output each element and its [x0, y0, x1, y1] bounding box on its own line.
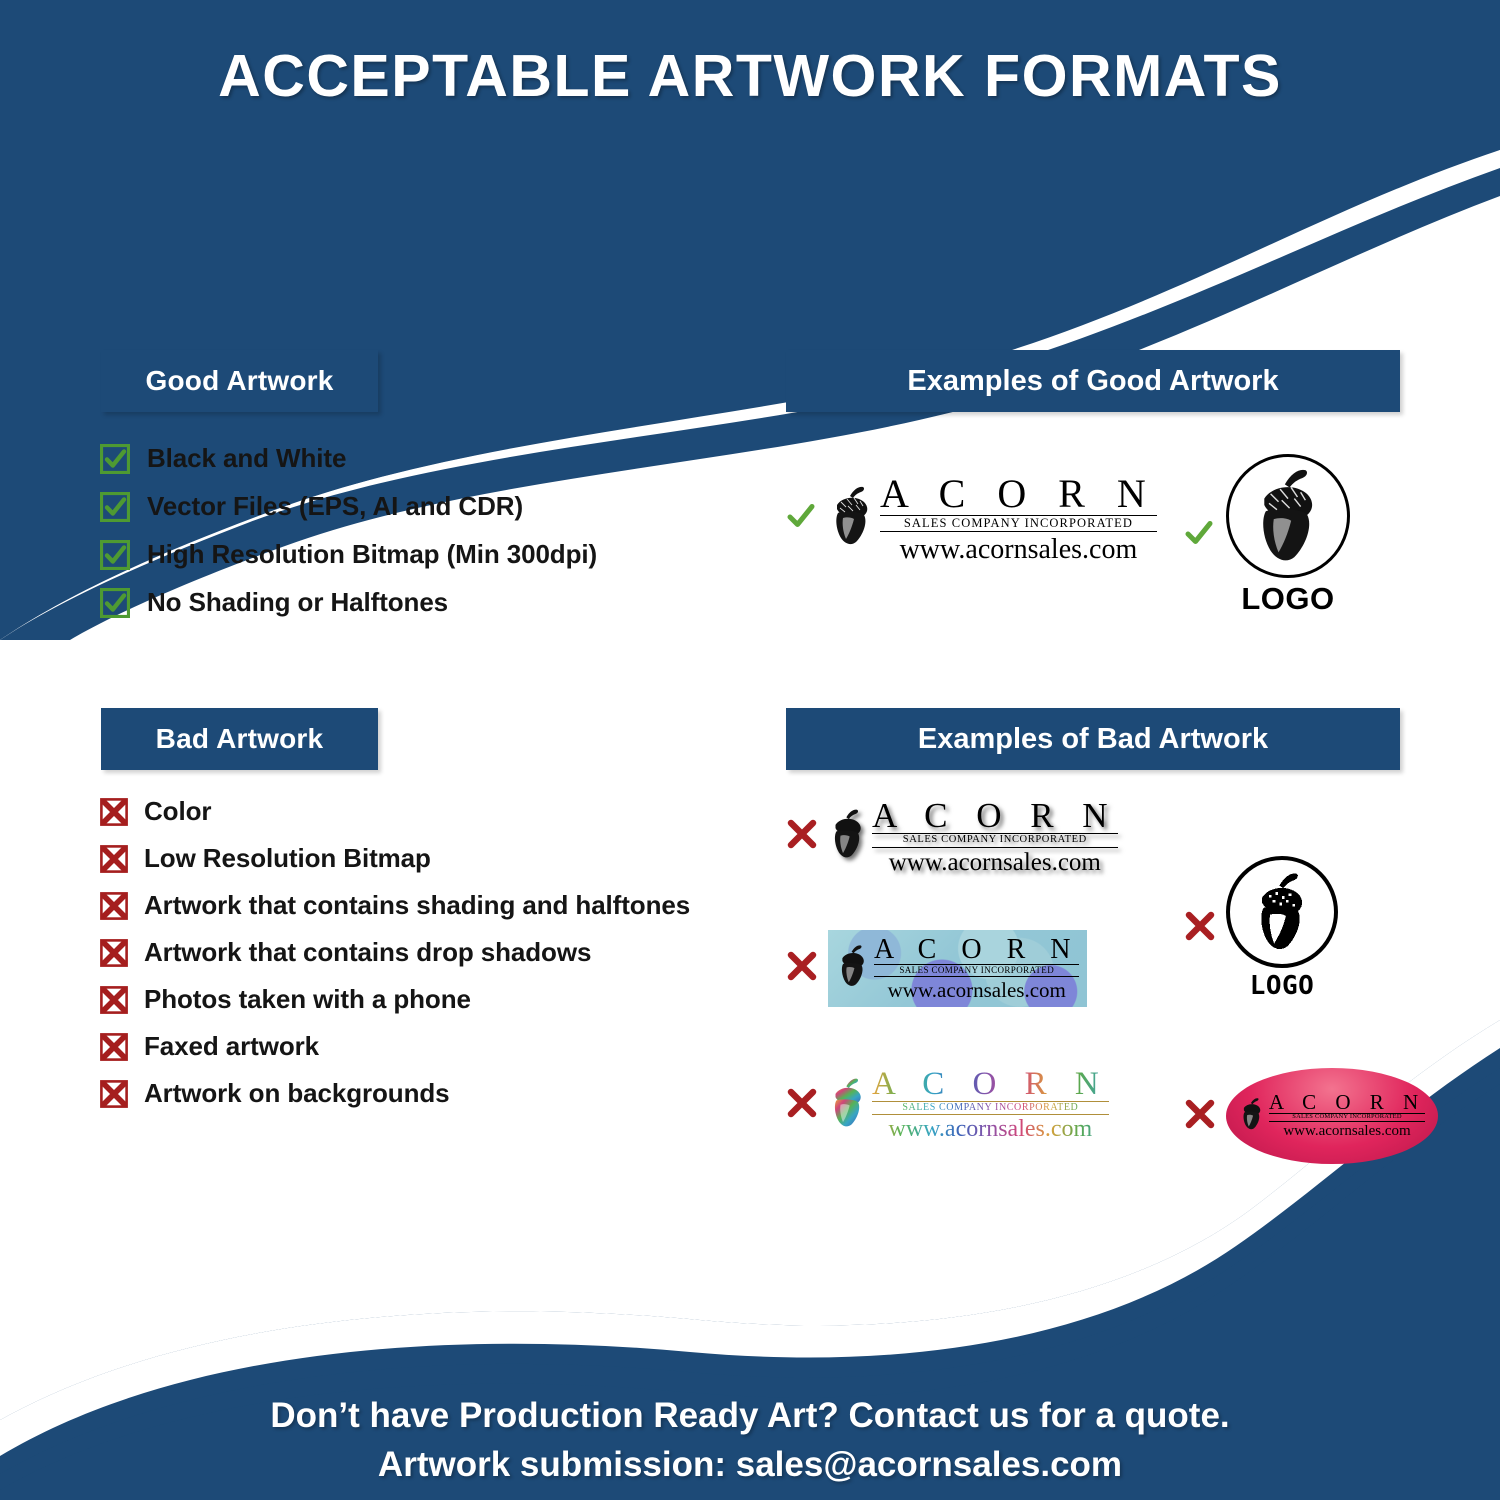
acorn-wordmark-block: A C O R N SALES COMPANY INCORPORATED www… — [872, 798, 1118, 876]
poster-canvas: ACCEPTABLE ARTWORK FORMATS Good Artwork … — [0, 0, 1500, 1500]
bad-example-item: A C O R N SALES COMPANY INCORPORATED www… — [786, 798, 1118, 876]
section-header-good-artwork: Good Artwork — [101, 350, 378, 412]
acorn-subtitle: SALES COMPANY INCORPORATED — [872, 833, 1118, 848]
good-example-item: A C O R N SALES COMPANY INCORPORATED www… — [786, 474, 1157, 564]
cross-mark-icon — [1184, 1098, 1216, 1135]
acorn-subtitle: SALES COMPANY INCORPORATED — [872, 1101, 1109, 1115]
list-item-label: Faxed artwork — [144, 1031, 319, 1062]
list-item-label: Color — [144, 796, 211, 827]
good-examples-gallery: A C O R N SALES COMPANY INCORPORATED www… — [786, 432, 1400, 622]
section-header-good-artwork-label: Good Artwork — [145, 365, 333, 397]
section-header-bad-artwork: Bad Artwork — [101, 708, 378, 770]
cross-mark-icon — [786, 1087, 818, 1124]
badge-caption: LOGO — [1241, 581, 1334, 617]
list-item: Artwork that contains drop shadows — [100, 937, 780, 968]
badge-ring — [1226, 454, 1350, 578]
list-item: Artwork on backgrounds — [100, 1078, 780, 1109]
bad-example-item: LOGO — [1184, 856, 1338, 1001]
acorn-icon — [828, 1077, 868, 1134]
section-header-good-examples-label: Examples of Good Artwork — [907, 365, 1278, 398]
checkbox-cross-icon — [100, 986, 128, 1014]
bad-examples-gallery: A C O R N SALES COMPANY INCORPORATED www… — [786, 780, 1400, 1180]
acorn-logo-oval: A C O R N SALES COMPANY INCORPORATED www… — [1226, 1068, 1438, 1164]
bad-example-item: A C O R N SALES COMPANY INCORPORATED www… — [786, 1068, 1109, 1142]
list-item-label: Vector Files (EPS, AI and CDR) — [147, 491, 523, 522]
footer-line-1: Don’t have Production Ready Art? Contact… — [0, 1396, 1500, 1436]
badge-ring — [1226, 856, 1338, 968]
checkbox-check-icon — [100, 540, 130, 570]
bad-artwork-list: Color Low Resolution Bitmap Artwork that… — [100, 796, 780, 1125]
cross-mark-icon — [786, 950, 818, 987]
section-header-good-examples: Examples of Good Artwork — [786, 350, 1400, 412]
good-artwork-list: Black and White Vector Files (EPS, AI an… — [100, 443, 780, 635]
acorn-url: www.acornsales.com — [880, 535, 1157, 564]
list-item: Vector Files (EPS, AI and CDR) — [100, 491, 780, 522]
checkbox-cross-icon — [100, 1080, 128, 1108]
section-header-bad-examples-label: Examples of Bad Artwork — [918, 723, 1268, 756]
footer-line-2: Artwork submission: sales@acornsales.com — [0, 1445, 1500, 1485]
list-item: Black and White — [100, 443, 780, 474]
list-item-label: No Shading or Halftones — [147, 587, 448, 618]
acorn-icon — [1245, 467, 1331, 565]
checkbox-cross-icon — [100, 939, 128, 967]
checkbox-cross-icon — [100, 1033, 128, 1061]
list-item: High Resolution Bitmap (Min 300dpi) — [100, 539, 780, 570]
acorn-logo-badge: LOGO — [1226, 856, 1338, 1001]
acorn-wordmark: A C O R N — [872, 1068, 1109, 1101]
acorn-subtitle: SALES COMPANY INCORPORATED — [1269, 1113, 1425, 1123]
acorn-wordmark: A C O R N — [1269, 1092, 1425, 1113]
list-item-label: Artwork that contains shading and halfto… — [144, 890, 690, 921]
checkbox-cross-icon — [100, 892, 128, 920]
list-item-label: Artwork on backgrounds — [144, 1078, 450, 1109]
list-item-label: Low Resolution Bitmap — [144, 843, 431, 874]
acorn-subtitle: SALES COMPANY INCORPORATED — [874, 964, 1079, 977]
acorn-url: www.acornsales.com — [872, 1117, 1109, 1142]
acorn-wordmark-block: A C O R N SALES COMPANY INCORPORATED www… — [1269, 1092, 1425, 1140]
check-mark-icon — [786, 501, 816, 536]
acorn-wordmark-block: A C O R N SALES COMPANY INCORPORATED www… — [874, 936, 1079, 1001]
list-item-label: Photos taken with a phone — [144, 984, 471, 1015]
list-item-label: Artwork that contains drop shadows — [144, 937, 591, 968]
checkbox-check-icon — [100, 444, 130, 474]
checkbox-cross-icon — [100, 798, 128, 826]
acorn-wordmark: A C O R N — [872, 798, 1118, 833]
cross-mark-icon — [786, 818, 818, 855]
list-item-label: Black and White — [147, 443, 346, 474]
list-item-label: High Resolution Bitmap (Min 300dpi) — [147, 539, 597, 570]
page-title: ACCEPTABLE ARTWORK FORMATS — [0, 42, 1500, 110]
acorn-url: www.acornsales.com — [874, 979, 1079, 1001]
acorn-icon — [836, 944, 870, 993]
list-item: No Shading or Halftones — [100, 587, 780, 618]
check-mark-icon — [1184, 518, 1214, 553]
cross-mark-icon — [1184, 910, 1216, 947]
badge-caption: LOGO — [1250, 971, 1315, 1001]
checkbox-cross-icon — [100, 845, 128, 873]
list-item: Color — [100, 796, 780, 827]
acorn-logo-lockup: A C O R N SALES COMPANY INCORPORATED www… — [1239, 1092, 1425, 1140]
acorn-wordmark-block: A C O R N SALES COMPANY INCORPORATED www… — [880, 474, 1157, 564]
acorn-logo-lockup: A C O R N SALES COMPANY INCORPORATED www… — [828, 930, 1087, 1007]
section-header-bad-artwork-label: Bad Artwork — [156, 723, 324, 755]
list-item: Faxed artwork — [100, 1031, 780, 1062]
acorn-logo-lockup: A C O R N SALES COMPANY INCORPORATED www… — [828, 798, 1118, 876]
acorn-logo-lockup: A C O R N SALES COMPANY INCORPORATED www… — [828, 1068, 1109, 1142]
acorn-icon — [1247, 871, 1317, 953]
checkbox-check-icon — [100, 492, 130, 522]
bad-example-item: A C O R N SALES COMPANY INCORPORATED www… — [1184, 1068, 1438, 1164]
acorn-icon — [1239, 1097, 1265, 1136]
acorn-url: www.acornsales.com — [872, 850, 1118, 876]
list-item: Low Resolution Bitmap — [100, 843, 780, 874]
acorn-wordmark: A C O R N — [874, 936, 1079, 964]
acorn-url: www.acornsales.com — [1269, 1124, 1425, 1140]
acorn-subtitle: SALES COMPANY INCORPORATED — [880, 515, 1157, 532]
checkbox-check-icon — [100, 588, 130, 618]
acorn-logo-badge: LOGO — [1226, 454, 1350, 617]
acorn-icon — [828, 808, 868, 865]
good-example-item: LOGO — [1184, 454, 1350, 617]
acorn-wordmark: A C O R N — [880, 474, 1157, 514]
list-item: Artwork that contains shading and halfto… — [100, 890, 780, 921]
acorn-wordmark-block: A C O R N SALES COMPANY INCORPORATED www… — [872, 1068, 1109, 1142]
acorn-icon — [828, 485, 876, 552]
section-header-bad-examples: Examples of Bad Artwork — [786, 708, 1400, 770]
list-item: Photos taken with a phone — [100, 984, 780, 1015]
bad-example-item: A C O R N SALES COMPANY INCORPORATED www… — [786, 930, 1087, 1007]
acorn-logo-lockup: A C O R N SALES COMPANY INCORPORATED www… — [828, 474, 1157, 564]
